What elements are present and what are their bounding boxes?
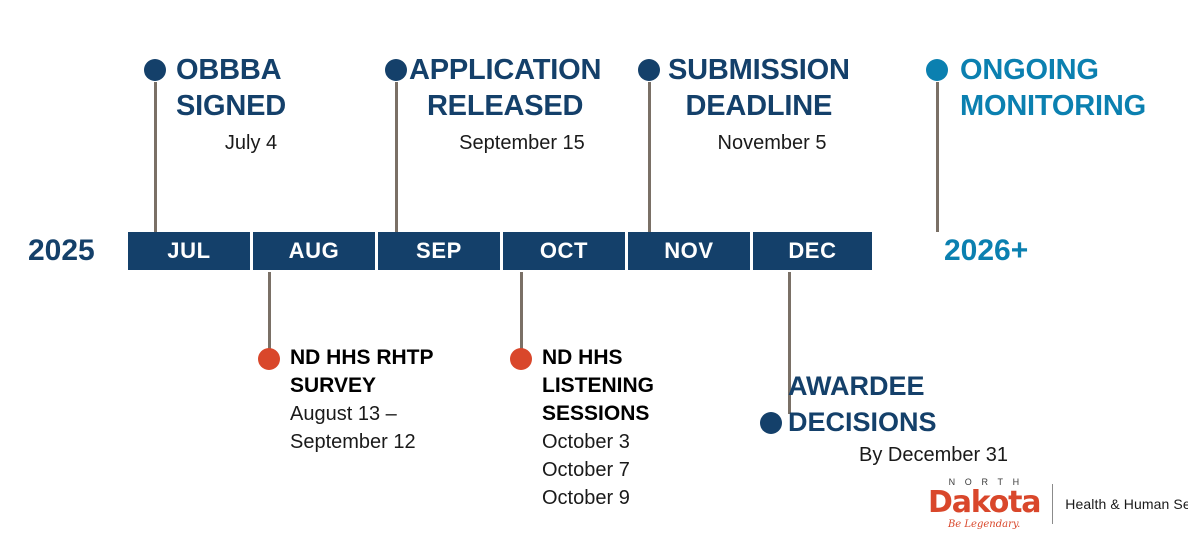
milestone-date: July 4	[176, 130, 326, 156]
navy-dot-icon	[760, 412, 782, 434]
navy-dot-icon	[638, 59, 660, 81]
month-bar: JUL AUG SEP OCT NOV DEC	[128, 232, 872, 270]
nd-hhs-logo: N O R T H Dakota Be Legendary. Health & …	[928, 478, 1188, 530]
month-cell-dec[interactable]: DEC	[753, 232, 872, 270]
milestone-title-line1: APPLICATION	[409, 54, 601, 86]
month-cell-nov[interactable]: NOV	[628, 232, 750, 270]
milestone-title-line1: ONGOING	[960, 54, 1099, 86]
milestone-date: By December 31	[760, 442, 1008, 468]
milestone-date: September 15	[409, 130, 635, 156]
connector-ongoing-monitoring	[936, 82, 939, 232]
milestone-nd-hhs-rhtp-survey: ND HHS RHTP SURVEY August 13 – September…	[258, 344, 518, 456]
teal-dot-icon	[926, 59, 948, 81]
orange-dot-icon	[510, 348, 532, 370]
logo-agency-text: Health & Human Services	[1065, 496, 1188, 512]
logo-tagline-text: Be Legendary.	[928, 520, 1040, 530]
milestone-title-line2: MONITORING	[960, 88, 1146, 124]
milestone-title-line1: ND HHS	[542, 344, 654, 372]
milestone-title-line2: SURVEY	[290, 372, 434, 400]
milestone-title-line1: AWARDEE	[788, 368, 1030, 404]
milestone-date: November 5	[666, 130, 878, 156]
milestone-application-released: APPLICATION RELEASED September 15	[385, 52, 635, 156]
milestone-title-line2: LISTENING	[542, 372, 654, 400]
navy-dot-icon	[144, 59, 166, 81]
logo-divider	[1052, 484, 1053, 524]
milestone-nd-hhs-listening-sessions: ND HHS LISTENING SESSIONS October 3 Octo…	[510, 344, 730, 512]
milestone-title-line2: DEADLINE	[668, 88, 850, 124]
north-dakota-wordmark: N O R T H Dakota Be Legendary.	[928, 478, 1040, 530]
connector-obbba-signed	[154, 82, 157, 232]
connector-application-released	[395, 82, 398, 232]
connector-nd-hhs-listening-sessions	[520, 272, 523, 350]
milestone-title-line3: SESSIONS	[542, 400, 654, 428]
milestone-ongoing-monitoring: ONGOING MONITORING	[926, 52, 1186, 124]
milestone-submission-deadline: SUBMISSION DEADLINE November 5	[638, 52, 878, 156]
milestone-obbba-signed: OBBBA SIGNED July 4	[144, 52, 374, 156]
milestone-date-1: October 7	[542, 456, 730, 484]
milestone-title-line2: RELEASED	[409, 88, 601, 124]
year-label-2025: 2025	[28, 232, 95, 270]
year-label-2026-plus: 2026+	[944, 232, 1028, 270]
milestone-title-line2: SIGNED	[176, 88, 286, 124]
milestone-title-line1: SUBMISSION	[668, 54, 850, 86]
logo-dakota-text: Dakota	[928, 488, 1040, 518]
milestone-date-0: August 13 –	[290, 400, 518, 428]
milestone-date-2: October 9	[542, 484, 730, 512]
milestone-title-line1: ND HHS RHTP	[290, 344, 434, 372]
milestone-awardee-decisions: AWARDEE DECISIONS By December 31	[760, 368, 1030, 468]
milestone-date-1: September 12	[290, 428, 518, 456]
month-cell-sep[interactable]: SEP	[378, 232, 500, 270]
connector-nd-hhs-rhtp-survey	[268, 272, 271, 350]
navy-dot-icon	[385, 59, 407, 81]
orange-dot-icon	[258, 348, 280, 370]
milestone-date-0: October 3	[542, 428, 730, 456]
timeline-infographic: OBBBA SIGNED July 4 APPLICATION RELEASED…	[0, 0, 1188, 541]
milestone-title-line2: DECISIONS	[788, 404, 937, 440]
month-cell-jul[interactable]: JUL	[128, 232, 250, 270]
milestone-title-line1: OBBBA	[176, 54, 281, 86]
month-cell-oct[interactable]: OCT	[503, 232, 625, 270]
month-cell-aug[interactable]: AUG	[253, 232, 375, 270]
connector-submission-deadline	[648, 82, 651, 232]
